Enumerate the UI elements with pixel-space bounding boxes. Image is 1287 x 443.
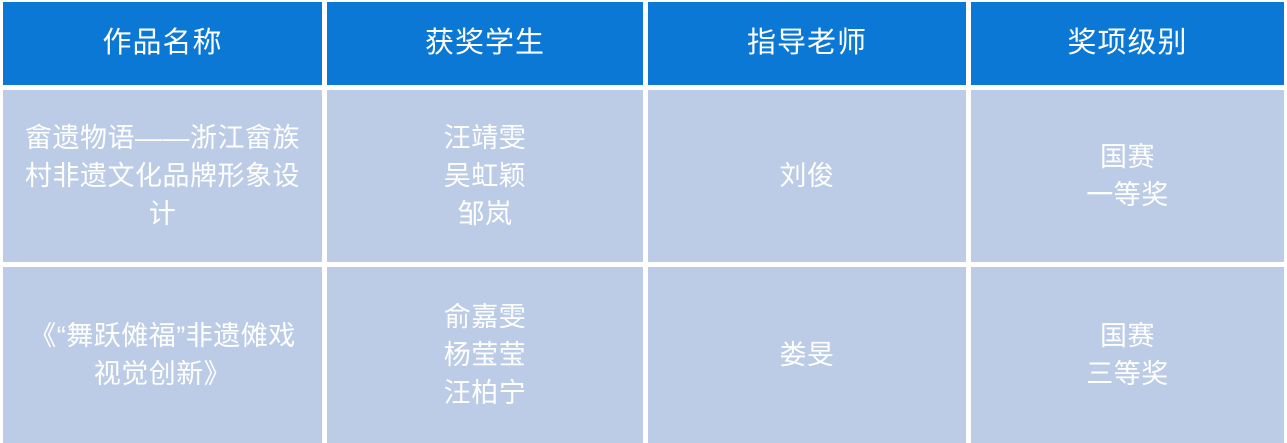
cell-work-name: 畲遗物语——浙江畲族村非遗文化品牌形象设计 xyxy=(0,90,327,267)
cell-students: 俞嘉雯 杨莹莹 汪柏宁 xyxy=(327,267,648,443)
award-scope: 国赛 xyxy=(985,317,1270,355)
student-name: 邹岚 xyxy=(341,195,629,233)
column-header-award-level: 奖项级别 xyxy=(971,0,1287,90)
award-level: 国赛 三等奖 xyxy=(971,317,1284,394)
student-name: 汪靖雯 xyxy=(341,119,629,157)
cell-work-name: 《“舞跃傩福”非遗傩戏视觉创新》 xyxy=(0,267,327,443)
awards-table: 作品名称 获奖学生 指导老师 奖项级别 畲遗物语——浙江畲族村非遗文化品牌形象设… xyxy=(0,0,1287,443)
award-rank: 一等奖 xyxy=(985,176,1270,214)
cell-advisor: 刘俊 xyxy=(648,90,971,267)
table-header-row: 作品名称 获奖学生 指导老师 奖项级别 xyxy=(0,0,1287,90)
column-header-students: 获奖学生 xyxy=(327,0,648,90)
students-list: 汪靖雯 吴虹颖 邹岚 xyxy=(327,119,643,234)
cell-award-level: 国赛 一等奖 xyxy=(971,90,1287,267)
work-name-text: 畲遗物语——浙江畲族村非遗文化品牌形象设计 xyxy=(3,119,322,234)
advisor-name: 刘俊 xyxy=(648,157,966,195)
advisor-name: 娄旻 xyxy=(648,336,966,374)
table-row: 畲遗物语——浙江畲族村非遗文化品牌形象设计 汪靖雯 吴虹颖 邹岚 刘俊 国赛 一… xyxy=(0,90,1287,267)
column-header-advisor: 指导老师 xyxy=(648,0,971,90)
student-name: 杨莹莹 xyxy=(341,336,629,374)
student-name: 俞嘉雯 xyxy=(341,298,629,336)
work-name-text: 《“舞跃傩福”非遗傩戏视觉创新》 xyxy=(3,317,322,394)
award-rank: 三等奖 xyxy=(985,355,1270,393)
cell-students: 汪靖雯 吴虹颖 邹岚 xyxy=(327,90,648,267)
column-header-work-name: 作品名称 xyxy=(0,0,327,90)
cell-advisor: 娄旻 xyxy=(648,267,971,443)
student-name: 吴虹颖 xyxy=(341,157,629,195)
students-list: 俞嘉雯 杨莹莹 汪柏宁 xyxy=(327,298,643,413)
award-scope: 国赛 xyxy=(985,138,1270,176)
table-row: 《“舞跃傩福”非遗傩戏视觉创新》 俞嘉雯 杨莹莹 汪柏宁 娄旻 国赛 三等奖 xyxy=(0,267,1287,443)
cell-award-level: 国赛 三等奖 xyxy=(971,267,1287,443)
award-level: 国赛 一等奖 xyxy=(971,138,1284,215)
table-body: 畲遗物语——浙江畲族村非遗文化品牌形象设计 汪靖雯 吴虹颖 邹岚 刘俊 国赛 一… xyxy=(0,90,1287,443)
table-header: 作品名称 获奖学生 指导老师 奖项级别 xyxy=(0,0,1287,90)
student-name: 汪柏宁 xyxy=(341,374,629,412)
